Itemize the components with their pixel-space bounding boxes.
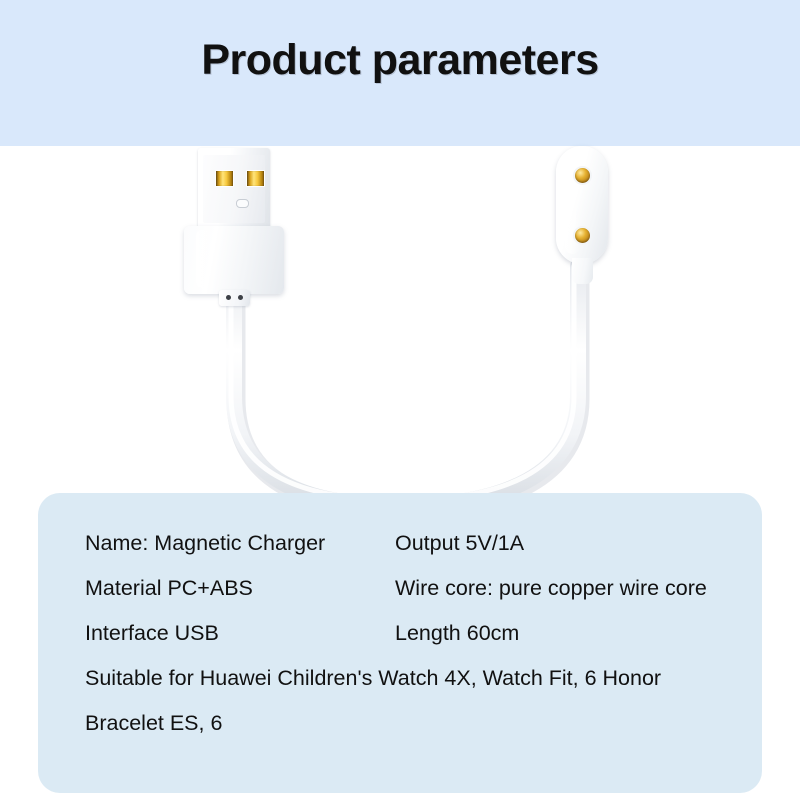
usb-housing-highlight: [196, 230, 220, 288]
spec-row: Material PC+ABS Wire core: pure copper w…: [85, 576, 744, 621]
spec-row: Name: Magnetic Charger Output 5V/1A: [85, 531, 744, 576]
usb-strain-relief: [219, 290, 250, 306]
spec-material-label: Material PC+ABS: [85, 576, 395, 601]
pogo-pin-bottom: [575, 228, 590, 243]
usb-contact-left: [215, 170, 234, 187]
cable-cord: [0, 146, 800, 546]
usb-metal-shell: [198, 148, 270, 230]
spec-compatibility-line-1: Suitable for Huawei Children's Watch 4X,…: [85, 666, 744, 711]
spec-length-value: Length 60cm: [395, 621, 744, 646]
usb-strain-dot-right: [238, 295, 243, 300]
magnetic-charging-head: [549, 146, 615, 306]
usb-contact-right: [246, 170, 265, 187]
page-title: Product parameters: [0, 36, 800, 85]
spec-row: Interface USB Length 60cm: [85, 621, 744, 666]
spec-list: Name: Magnetic Charger Output 5V/1A Mate…: [85, 531, 744, 756]
spec-panel: Name: Magnetic Charger Output 5V/1A Mate…: [38, 493, 762, 793]
usb-shell-inner: [203, 155, 265, 223]
spec-wire-core-value: Wire core: pure copper wire core: [395, 576, 744, 601]
spec-compatibility-line-2: Bracelet ES, 6: [85, 711, 744, 756]
header-band: Product parameters: [0, 0, 800, 146]
spec-output-value: Output 5V/1A: [395, 531, 744, 556]
usb-strain-dot-left: [226, 295, 231, 300]
magnetic-head-neck: [572, 258, 593, 284]
usb-a-connector: [184, 148, 284, 308]
usb-slot: [236, 199, 249, 208]
pogo-pin-top: [575, 168, 590, 183]
spec-interface-label: Interface USB: [85, 621, 395, 646]
spec-name-label: Name: Magnetic Charger: [85, 531, 395, 556]
product-parameters-page: Product parameters: [0, 0, 800, 800]
product-photo: [0, 146, 800, 546]
usb-plastic-housing: [184, 226, 284, 294]
magnetic-head-body: [556, 146, 608, 264]
